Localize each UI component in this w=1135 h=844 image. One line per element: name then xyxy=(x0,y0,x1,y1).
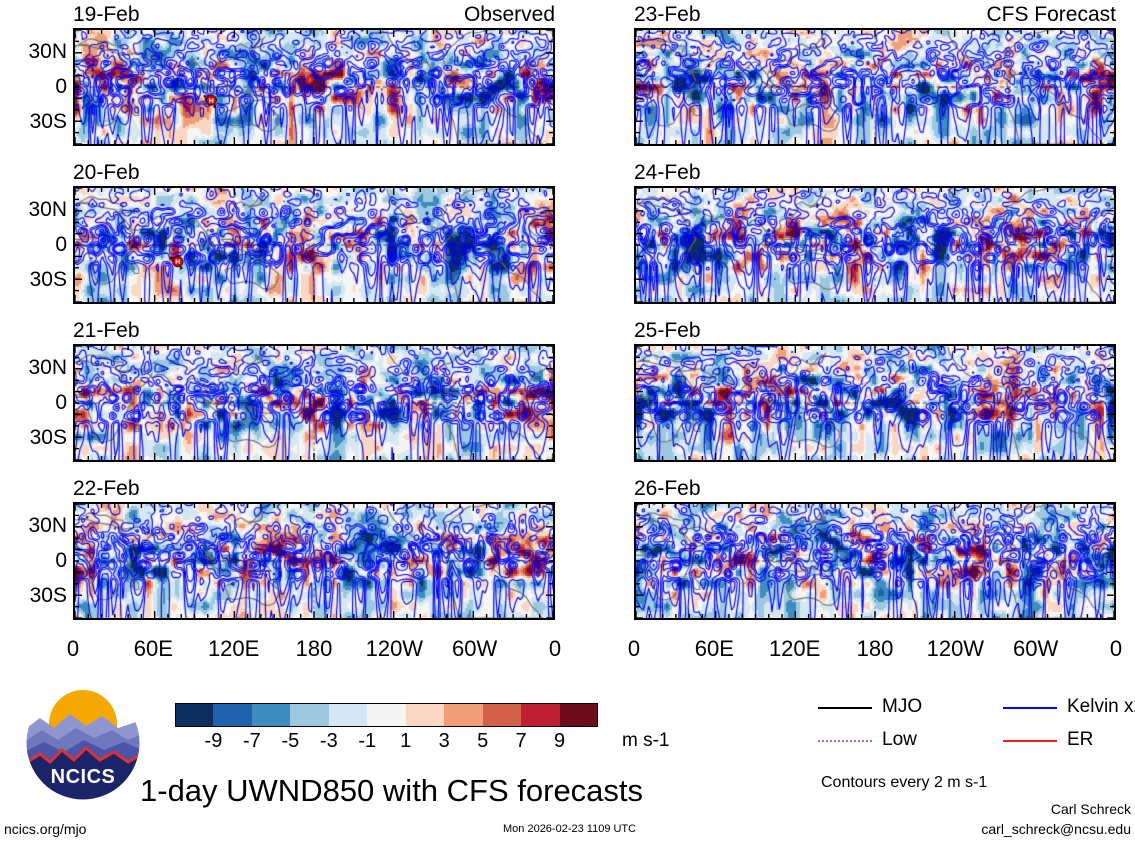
panel-date-label: 21-Feb xyxy=(73,320,140,341)
x-axis-label-col0-5: 60W xyxy=(435,638,515,660)
panel-date-label: 24-Feb xyxy=(634,162,701,183)
map-panel-20-feb: 20-Feb xyxy=(73,162,555,304)
panel-date-label: 19-Feb xyxy=(73,4,140,25)
colorbar xyxy=(175,703,598,727)
uwnd850-field-canvas xyxy=(75,188,553,302)
uwnd850-field-canvas xyxy=(636,346,1114,460)
panel-date-label: 20-Feb xyxy=(73,162,140,183)
colorbar-segment-7 xyxy=(444,703,482,727)
uwnd850-field-canvas xyxy=(75,346,553,460)
map-plot-area xyxy=(73,28,555,146)
x-axis-label-col1-3: 180 xyxy=(835,638,915,660)
y-axis-label-30n: 30N xyxy=(1,41,67,62)
legend-item-kelvin-x2: Kelvin x2 xyxy=(1003,694,1135,720)
legend-item-mjo: MJO xyxy=(818,694,993,720)
map-panel-19-feb: 19-FebObserved xyxy=(73,4,555,146)
x-axis-label-col1-1: 60E xyxy=(674,638,754,660)
legend-item-low: Low xyxy=(818,727,993,753)
map-plot-area xyxy=(634,186,1116,304)
map-panel-25-feb: 25-Feb xyxy=(634,320,1116,462)
colorbar-segment-0 xyxy=(175,703,213,727)
column-header-observed: Observed xyxy=(464,4,555,25)
map-panel-23-feb: 23-FebCFS Forecast xyxy=(634,4,1116,146)
legend-label-low: Low xyxy=(882,730,917,749)
map-panel-22-feb: 22-Feb xyxy=(73,478,555,620)
colorbar-segment-6 xyxy=(406,703,444,727)
colorbar-segment-2 xyxy=(252,703,290,727)
colorbar-segment-9 xyxy=(521,703,559,727)
colorbar-segment-8 xyxy=(483,703,521,727)
figure-root: 19-FebObserved30N030S20-Feb30N030S21-Feb… xyxy=(0,0,1135,844)
map-plot-area xyxy=(73,344,555,462)
uwnd850-field-canvas xyxy=(636,504,1114,618)
column-header-cfs-forecast: CFS Forecast xyxy=(986,4,1116,25)
legend-label-mjo: MJO xyxy=(882,697,922,716)
colorbar-units-label: m s-1 xyxy=(622,731,670,750)
colorbar-segment-4 xyxy=(329,703,367,727)
colorbar-segment-3 xyxy=(290,703,328,727)
author-name: Carl Schreck xyxy=(0,802,1131,816)
map-plot-area xyxy=(634,344,1116,462)
uwnd850-field-canvas xyxy=(636,188,1114,302)
x-axis-label-col1-2: 120E xyxy=(755,638,835,660)
uwnd850-field-canvas xyxy=(75,30,553,144)
ncics-logo-text: NCICS xyxy=(24,766,142,789)
map-plot-area xyxy=(73,186,555,304)
y-axis-label-0: 0 xyxy=(1,550,67,571)
x-axis-label-col0-2: 120E xyxy=(194,638,274,660)
legend-label-kelvin-x2: Kelvin x2 xyxy=(1067,697,1135,716)
x-axis-label-col1-4: 120W xyxy=(915,638,995,660)
x-axis-label-col0-4: 120W xyxy=(354,638,434,660)
legend-swatch-er xyxy=(1003,740,1057,742)
contour-interval-note: Contours every 2 m s-1 xyxy=(821,775,987,791)
x-axis-label-col0-6: 0 xyxy=(515,638,595,660)
map-panel-21-feb: 21-Feb xyxy=(73,320,555,462)
panel-date-label: 23-Feb xyxy=(634,4,701,25)
uwnd850-field-canvas xyxy=(75,504,553,618)
y-axis-label-0: 0 xyxy=(1,76,67,97)
x-axis-label-col1-0: 0 xyxy=(594,638,674,660)
y-axis-label-30n: 30N xyxy=(1,199,67,220)
x-axis-label-col0-1: 60E xyxy=(113,638,193,660)
author-email: carl_schreck@ncsu.edu xyxy=(0,822,1131,836)
y-axis-label-30s: 30S xyxy=(1,427,67,448)
map-plot-area xyxy=(634,502,1116,620)
y-axis-label-30s: 30S xyxy=(1,585,67,606)
panel-date-label: 22-Feb xyxy=(73,478,140,499)
ncics-logo: NCICS xyxy=(24,684,142,802)
legend-swatch-low xyxy=(818,740,872,742)
x-axis-label-col1-5: 60W xyxy=(996,638,1076,660)
panel-date-label: 26-Feb xyxy=(634,478,701,499)
x-axis-label-col0-0: 0 xyxy=(33,638,113,660)
y-axis-label-30n: 30N xyxy=(1,357,67,378)
wave-type-legend: MJOLowKelvin x2ER xyxy=(818,694,1128,764)
x-axis-label-col1-6: 0 xyxy=(1076,638,1135,660)
y-axis-label-30s: 30S xyxy=(1,111,67,132)
map-panel-24-feb: 24-Feb xyxy=(634,162,1116,304)
y-axis-label-30s: 30S xyxy=(1,269,67,290)
y-axis-label-30n: 30N xyxy=(1,515,67,536)
colorbar-segment-5 xyxy=(367,703,405,727)
y-axis-label-0: 0 xyxy=(1,392,67,413)
uwnd850-field-canvas xyxy=(636,30,1114,144)
legend-label-er: ER xyxy=(1067,730,1093,749)
map-plot-area xyxy=(634,28,1116,146)
x-axis-label-col0-3: 180 xyxy=(274,638,354,660)
colorbar-segment-10 xyxy=(560,703,598,727)
legend-swatch-mjo xyxy=(818,707,872,709)
legend-swatch-kelvin-x2 xyxy=(1003,707,1057,709)
panel-date-label: 25-Feb xyxy=(634,320,701,341)
y-axis-label-0: 0 xyxy=(1,234,67,255)
map-plot-area xyxy=(73,502,555,620)
map-panel-26-feb: 26-Feb xyxy=(634,478,1116,620)
colorbar-segment-1 xyxy=(213,703,251,727)
colorbar-tick-9: 9 xyxy=(537,731,583,751)
legend-item-er: ER xyxy=(1003,727,1135,753)
